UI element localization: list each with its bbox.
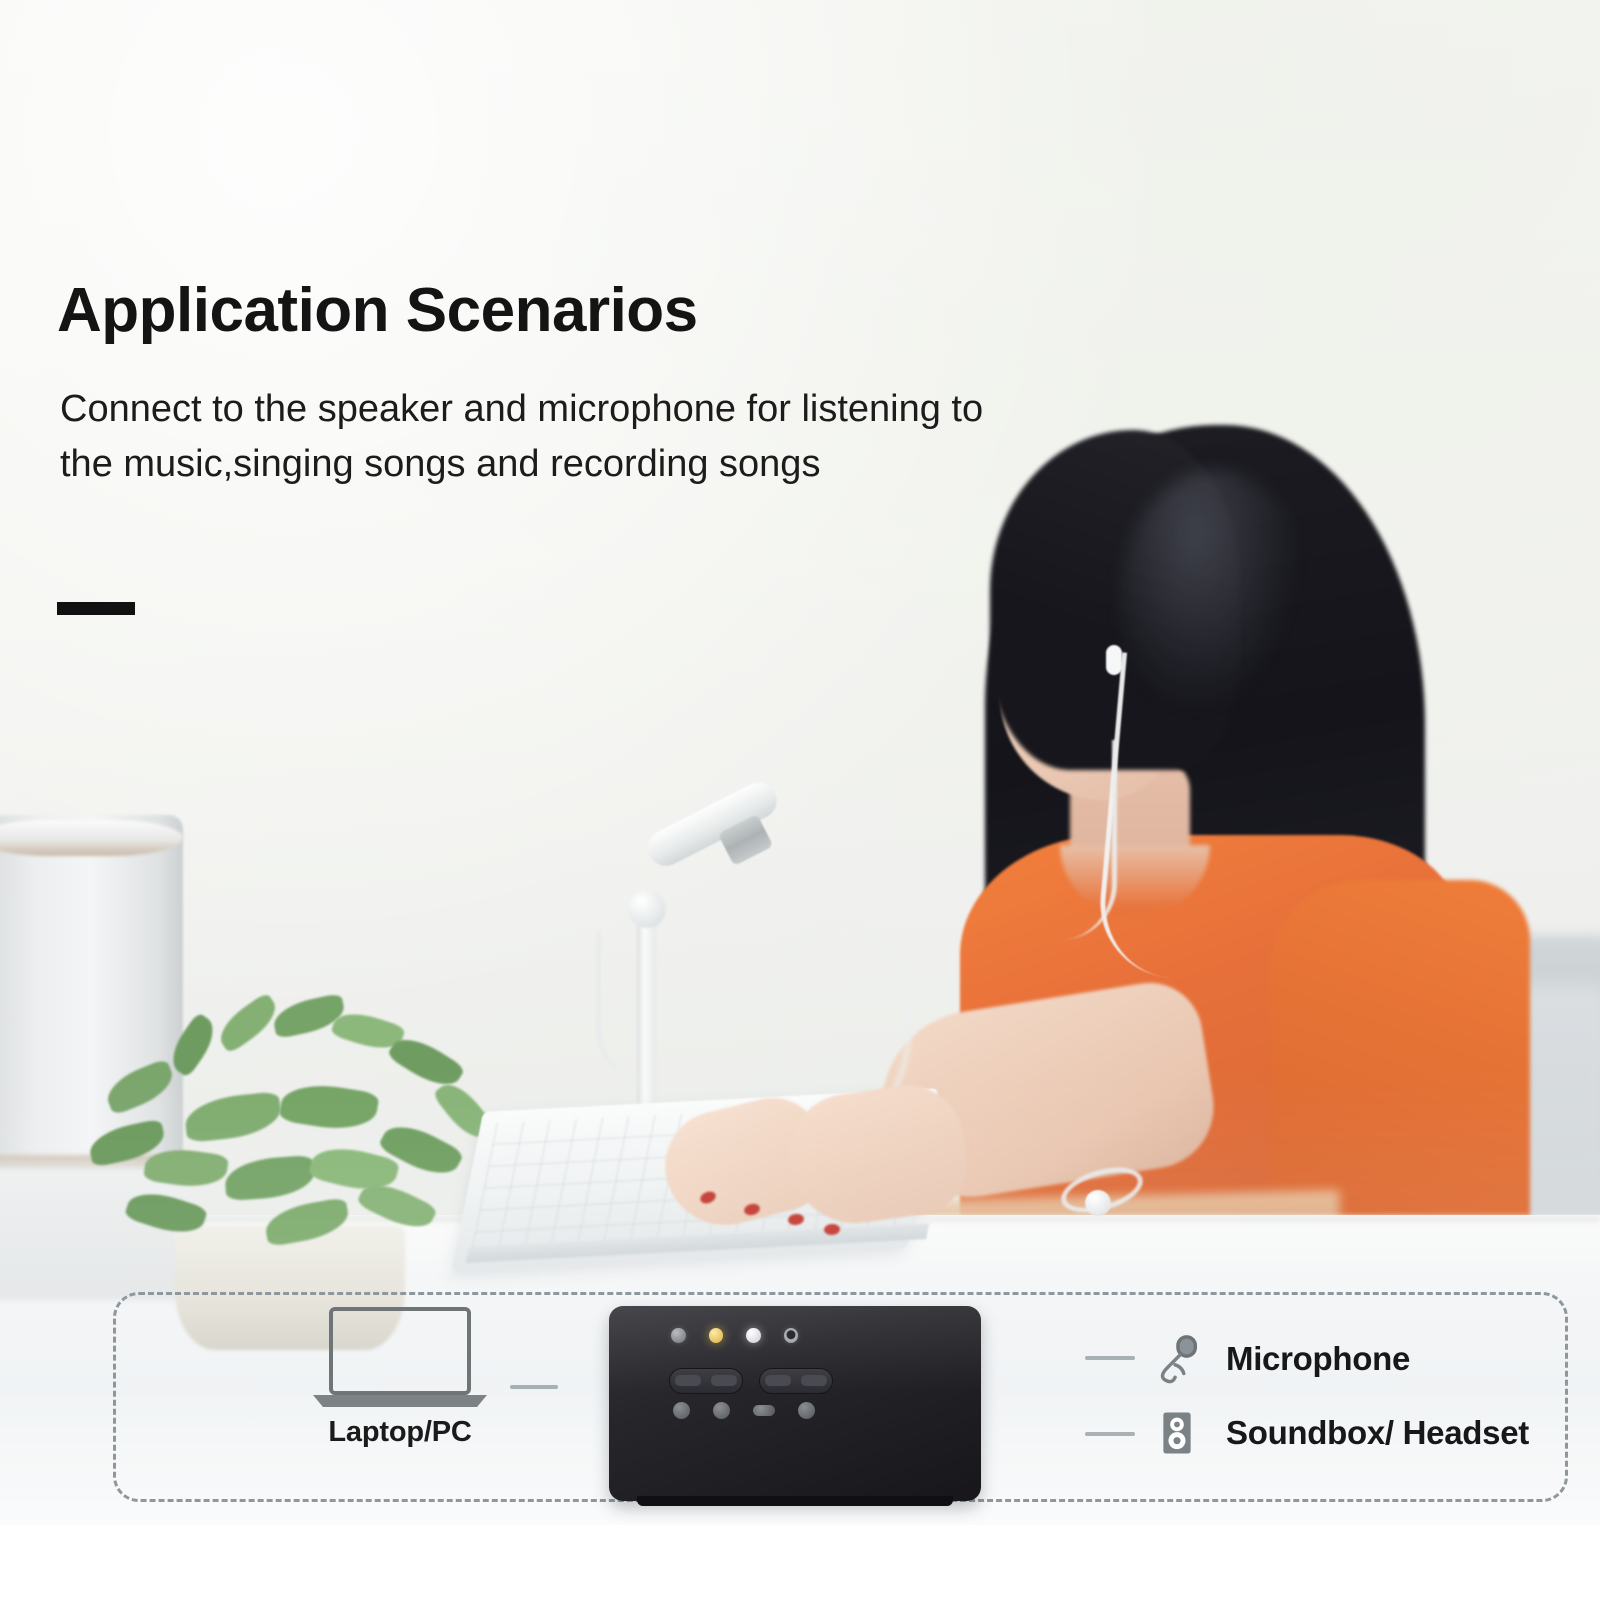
page-root: Application Scenarios Connect to the spe… [0, 0, 1600, 1600]
rocker-button-right[interactable] [759, 1368, 833, 1394]
led-power-icon [671, 1328, 686, 1343]
connector-laptop-device [510, 1385, 558, 1389]
diagram-item-laptop[interactable]: Laptop/PC [300, 1305, 500, 1449]
microphone-joint [628, 890, 666, 928]
microphone-icon [1150, 1332, 1204, 1386]
device-led-group [671, 1328, 821, 1343]
device-base-foot [637, 1496, 953, 1506]
connector-device-soundbox [1085, 1432, 1135, 1436]
page-title: Application Scenarios [57, 278, 698, 343]
connector-device-microphone [1085, 1356, 1135, 1360]
legend-label-microphone: Microphone [1226, 1340, 1410, 1378]
cylindrical-speaker-top [0, 820, 183, 856]
effect-icon [753, 1405, 775, 1416]
bracelet-bead [1085, 1190, 1111, 1216]
legend-item-microphone[interactable]: Microphone [1150, 1322, 1529, 1396]
title-divider [57, 602, 135, 615]
device-icon-row [673, 1402, 838, 1419]
earbud-cable-secondary [1060, 740, 1117, 940]
led-active-icon [709, 1328, 724, 1343]
page-subtitle: Connect to the speaker and microphone fo… [60, 382, 1020, 492]
led-signal-icon [746, 1328, 761, 1343]
legend-label-soundbox: Soundbox/ Headset [1226, 1414, 1529, 1452]
laptop-icon [309, 1305, 491, 1413]
mic-mute-icon [673, 1402, 690, 1419]
led-ring-icon [784, 1328, 799, 1343]
legend-item-soundbox[interactable]: Soundbox/ Headset [1150, 1396, 1529, 1470]
record-icon [798, 1402, 815, 1419]
diagram-legend: Microphone Soundbox/ Headset [1150, 1322, 1529, 1470]
speaker-icon [1150, 1406, 1204, 1460]
plant-foliage [75, 1000, 515, 1270]
volume-icon [713, 1402, 730, 1419]
device-button-group[interactable] [669, 1368, 849, 1394]
rocker-button-left[interactable] [669, 1368, 743, 1394]
laptop-label: Laptop/PC [300, 1416, 500, 1449]
sound-card-device[interactable] [609, 1306, 981, 1501]
